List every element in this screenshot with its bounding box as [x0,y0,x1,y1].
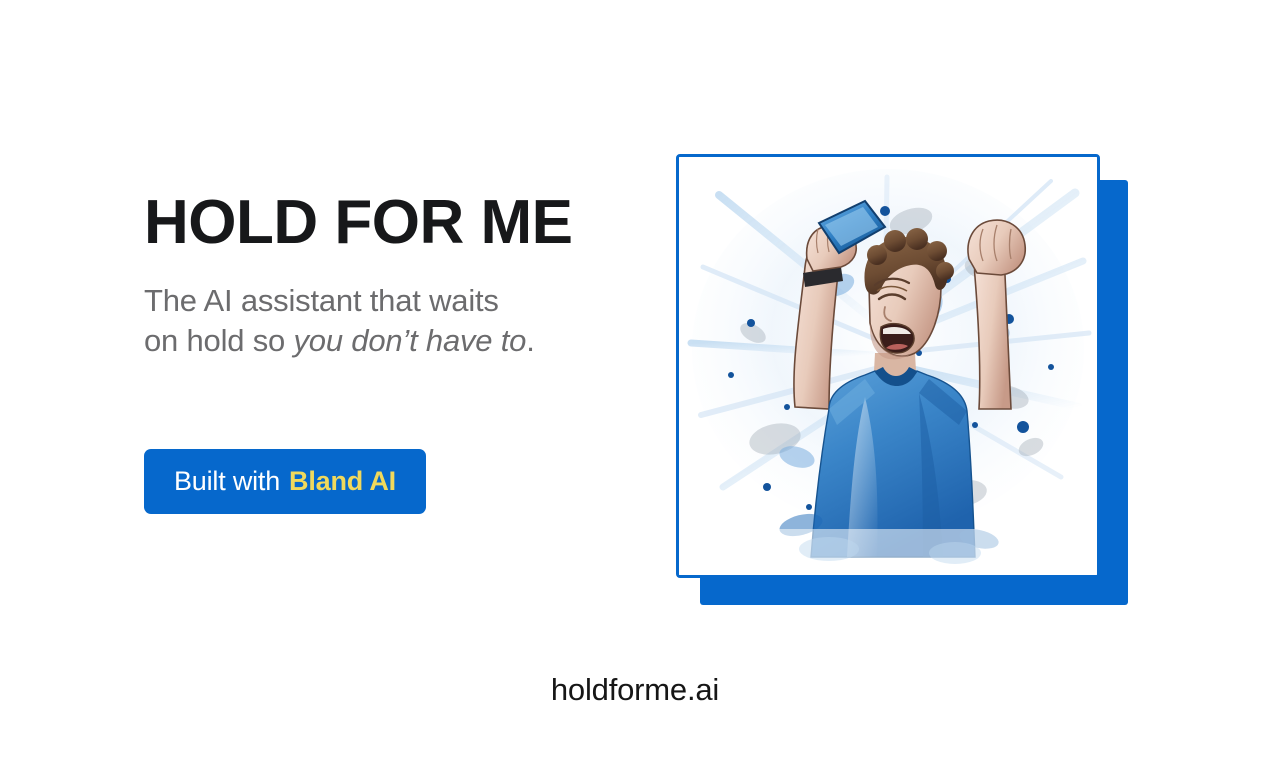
cta-brand-label: Bland AI [289,466,396,497]
subtitle-line-2-prefix: on hold so [144,323,293,358]
page-title: HOLD FOR ME [144,190,624,255]
cta-prefix-label: Built with [174,466,280,497]
celebration-illustration [679,157,1097,575]
built-with-bland-ai-button[interactable]: Built with Bland AI [144,449,426,514]
site-url: holdforme.ai [0,672,1270,708]
artwork-card [676,154,1136,614]
artwork-frame [676,154,1100,578]
subtitle-line-2-suffix: . [526,323,534,358]
hero-subtitle: The AI assistant that waits on hold so y… [144,255,624,361]
subtitle-line-2-emphasis: you don’t have to [293,323,526,358]
subtitle-line-1: The AI assistant that waits [144,283,499,318]
hero-text-column: HOLD FOR ME The AI assistant that waits … [144,190,624,361]
hero-canvas: HOLD FOR ME The AI assistant that waits … [0,0,1270,760]
